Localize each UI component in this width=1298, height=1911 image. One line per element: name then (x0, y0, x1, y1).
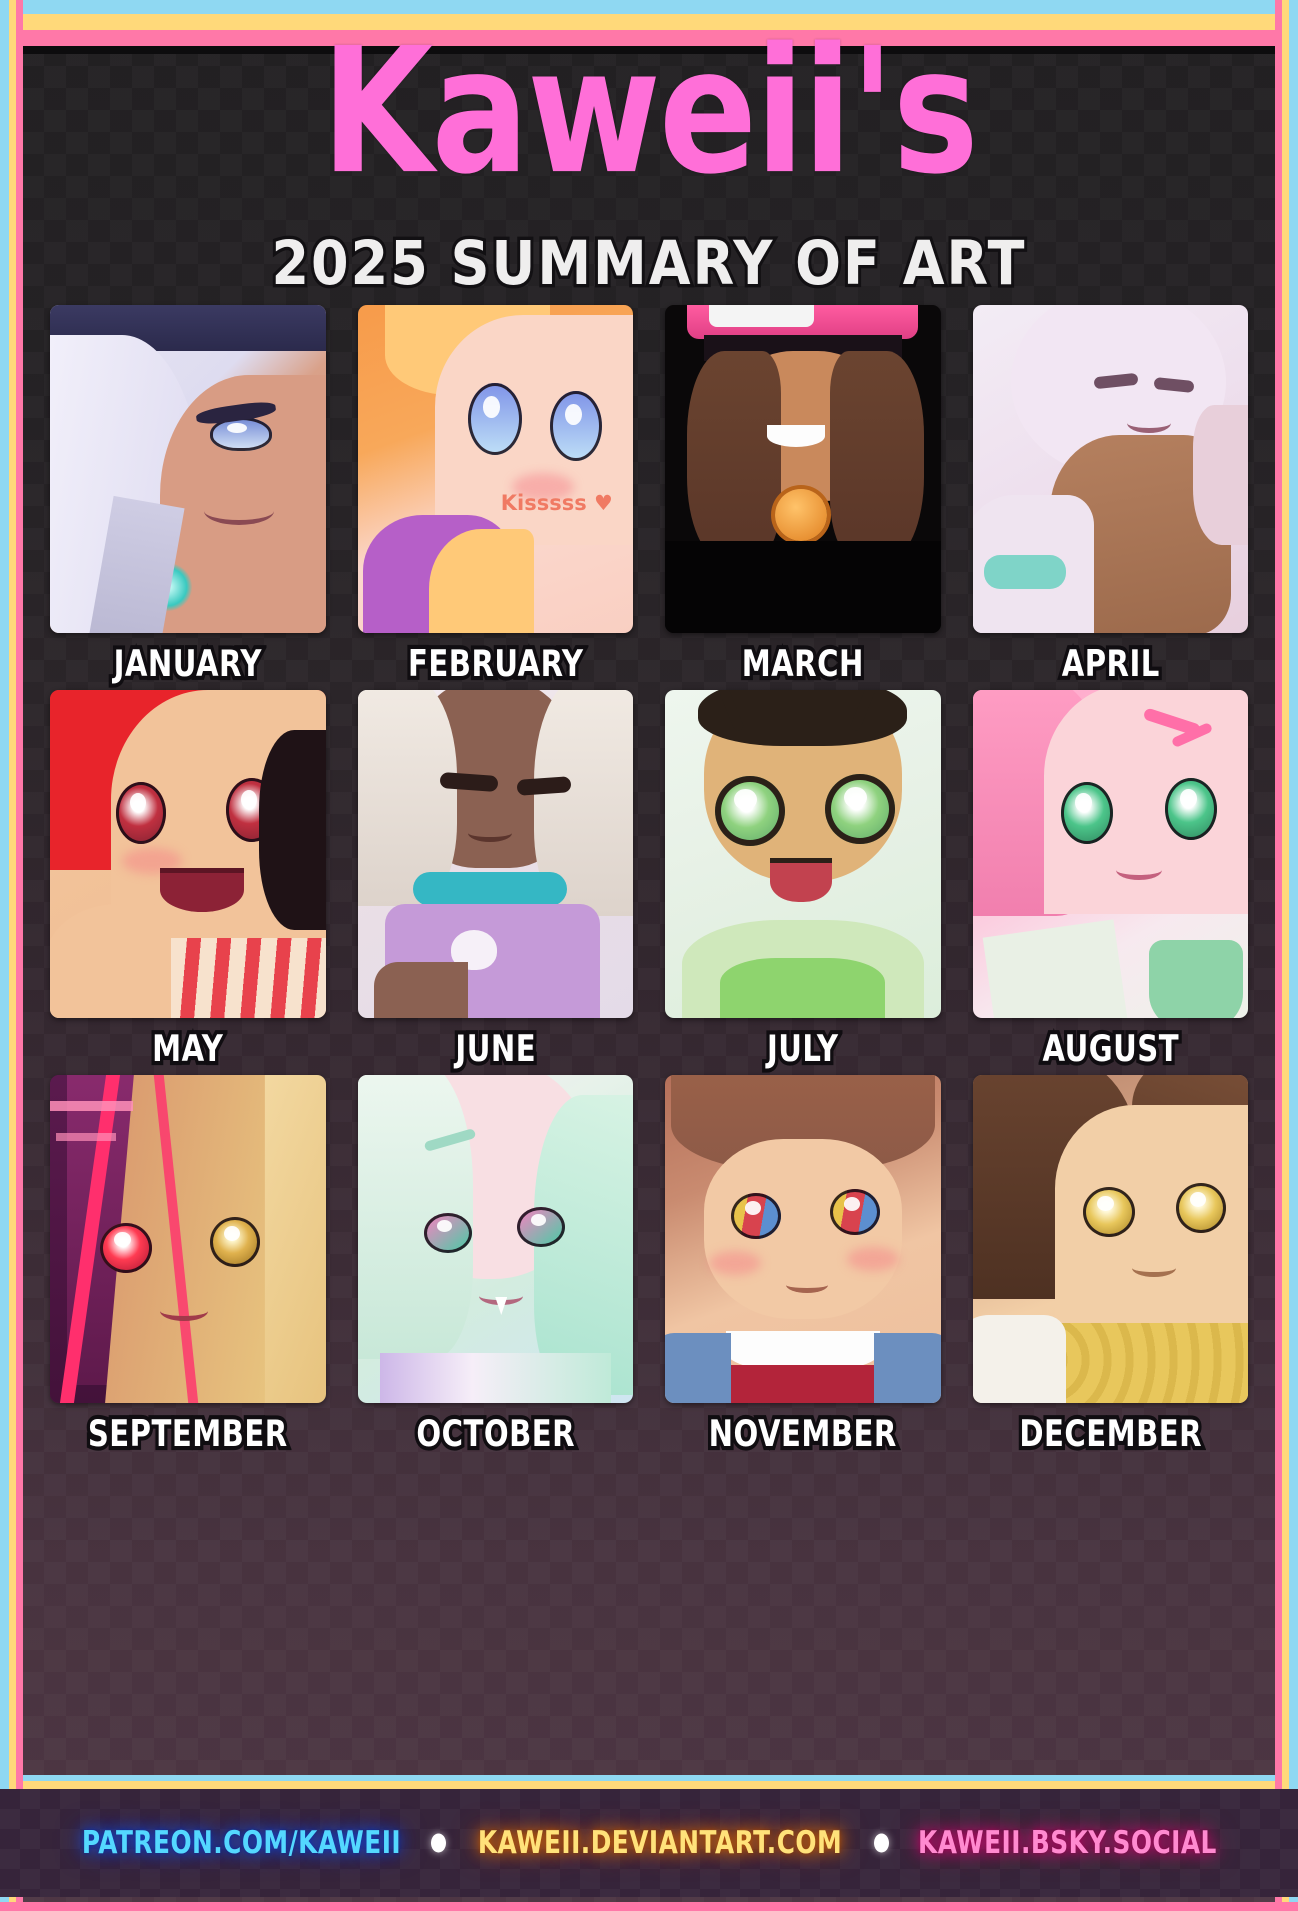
frame-edge-bottom-pink (0, 1902, 1298, 1911)
month-cell-february[interactable]: Kisssss ♥ FEBRUARY (358, 305, 634, 682)
art-eye (1165, 778, 1217, 840)
art-shape (160, 868, 244, 912)
deviantart-link[interactable]: KAWEII.DEVIANTART.COM (478, 1825, 842, 1861)
art-blush (709, 1251, 761, 1275)
month-label: NOVEMBER (673, 1413, 932, 1455)
june-artwork[interactable] (358, 690, 634, 1018)
month-cell-october[interactable]: OCTOBER (358, 1075, 634, 1452)
art-eye (1083, 1187, 1135, 1237)
december-artwork[interactable] (973, 1075, 1249, 1403)
poster-canvas: Kaweii's 2025 SUMMARY OF ART JANUARY (0, 0, 1298, 1911)
month-label: MARCH (673, 643, 932, 685)
art-eye (715, 776, 785, 846)
month-cell-may[interactable]: MAY (50, 690, 326, 1067)
art-eye (424, 1213, 472, 1253)
july-artwork[interactable] (665, 690, 941, 1018)
art-eye (116, 782, 166, 844)
art-eye (1061, 782, 1113, 844)
month-label: AUGUST (981, 1028, 1240, 1070)
page-title: Kaweii's (0, 26, 1298, 199)
art-hair (259, 730, 325, 930)
bluesky-link[interactable]: KAWEII.BSKY.SOCIAL (918, 1825, 1217, 1861)
footer-links: PATREON.COM/KAWEII KAWEII.DEVIANTART.COM… (0, 1828, 1298, 1859)
poster-header: Kaweii's 2025 SUMMARY OF ART (0, 26, 1298, 295)
art-hair (687, 351, 781, 561)
month-cell-december[interactable]: DECEMBER (973, 1075, 1249, 1452)
month-cell-november[interactable]: NOVEMBER (665, 1075, 941, 1452)
art-shape (56, 1133, 117, 1141)
march-artwork[interactable] (665, 305, 941, 633)
month-label: JANUARY (58, 643, 317, 685)
months-grid: JANUARY Kisssss ♥ FEBRUARY (50, 305, 1248, 1452)
art-mouth (1132, 1259, 1176, 1277)
art-mouth (204, 497, 274, 525)
art-shape (973, 1315, 1067, 1403)
art-mouth (468, 824, 512, 842)
art-eye (100, 1223, 152, 1273)
art-shape (720, 958, 885, 1018)
page-subtitle: 2025 SUMMARY OF ART (0, 228, 1298, 299)
art-eye (210, 1217, 260, 1267)
month-label: APRIL (981, 643, 1240, 685)
art-blush (847, 1247, 899, 1271)
art-shape (1149, 940, 1243, 1018)
month-label: DECEMBER (981, 1413, 1240, 1455)
art-shape (50, 1101, 133, 1111)
month-label: JUNE (366, 1028, 625, 1070)
art-shape (715, 1365, 891, 1403)
art-eye (517, 1207, 565, 1247)
art-eye (550, 391, 602, 461)
art-mouth (786, 1277, 828, 1293)
art-shape (380, 1353, 611, 1403)
art-eye (825, 774, 895, 844)
september-artwork[interactable] (50, 1075, 326, 1403)
month-label: FEBRUARY (366, 643, 625, 685)
october-artwork[interactable] (358, 1075, 634, 1403)
january-artwork[interactable] (50, 305, 326, 633)
art-shape (767, 425, 825, 447)
art-eye (830, 1189, 880, 1235)
month-cell-july[interactable]: JULY (665, 690, 941, 1067)
footer-band: PATREON.COM/KAWEII KAWEII.DEVIANTART.COM… (0, 1789, 1298, 1897)
month-cell-september[interactable]: SEPTEMBER (50, 1075, 326, 1452)
art-mouth (160, 1301, 208, 1321)
month-label: JULY (673, 1028, 932, 1070)
art-overlay-text: Kisssss ♥ (501, 491, 613, 515)
august-artwork[interactable] (973, 690, 1249, 1018)
april-artwork[interactable] (973, 305, 1249, 633)
month-label: MAY (58, 1028, 317, 1070)
month-cell-march[interactable]: MARCH (665, 305, 941, 682)
art-shape (775, 489, 827, 541)
art-mouth (1116, 860, 1162, 880)
art-shape (665, 541, 941, 633)
art-shape (984, 555, 1067, 589)
separator-dot-icon (431, 1834, 446, 1853)
month-cell-january[interactable]: JANUARY (50, 305, 326, 682)
art-eye (731, 1193, 781, 1239)
may-artwork[interactable] (50, 690, 326, 1018)
month-cell-august[interactable]: AUGUST (973, 690, 1249, 1067)
art-eye (468, 383, 522, 455)
art-shape (413, 872, 567, 906)
art-fang (495, 1297, 507, 1315)
art-shape (1193, 405, 1248, 545)
art-shape (983, 919, 1128, 1018)
art-shape (171, 938, 325, 1018)
art-shape (770, 858, 832, 902)
november-artwork[interactable] (665, 1075, 941, 1403)
art-shape (874, 1333, 940, 1403)
art-hair (830, 351, 924, 561)
art-shape (665, 1333, 731, 1403)
art-shape (709, 305, 814, 327)
separator-dot-icon (874, 1834, 889, 1853)
month-cell-june[interactable]: JUNE (358, 690, 634, 1067)
art-mouth (1127, 413, 1171, 433)
art-shape (429, 529, 534, 633)
patreon-link[interactable]: PATREON.COM/KAWEII (82, 1825, 401, 1861)
art-shape (374, 962, 468, 1018)
month-label: OCTOBER (366, 1413, 625, 1455)
month-cell-april[interactable]: APRIL (973, 305, 1249, 682)
month-label: SEPTEMBER (58, 1413, 317, 1455)
february-artwork[interactable]: Kisssss ♥ (358, 305, 634, 633)
